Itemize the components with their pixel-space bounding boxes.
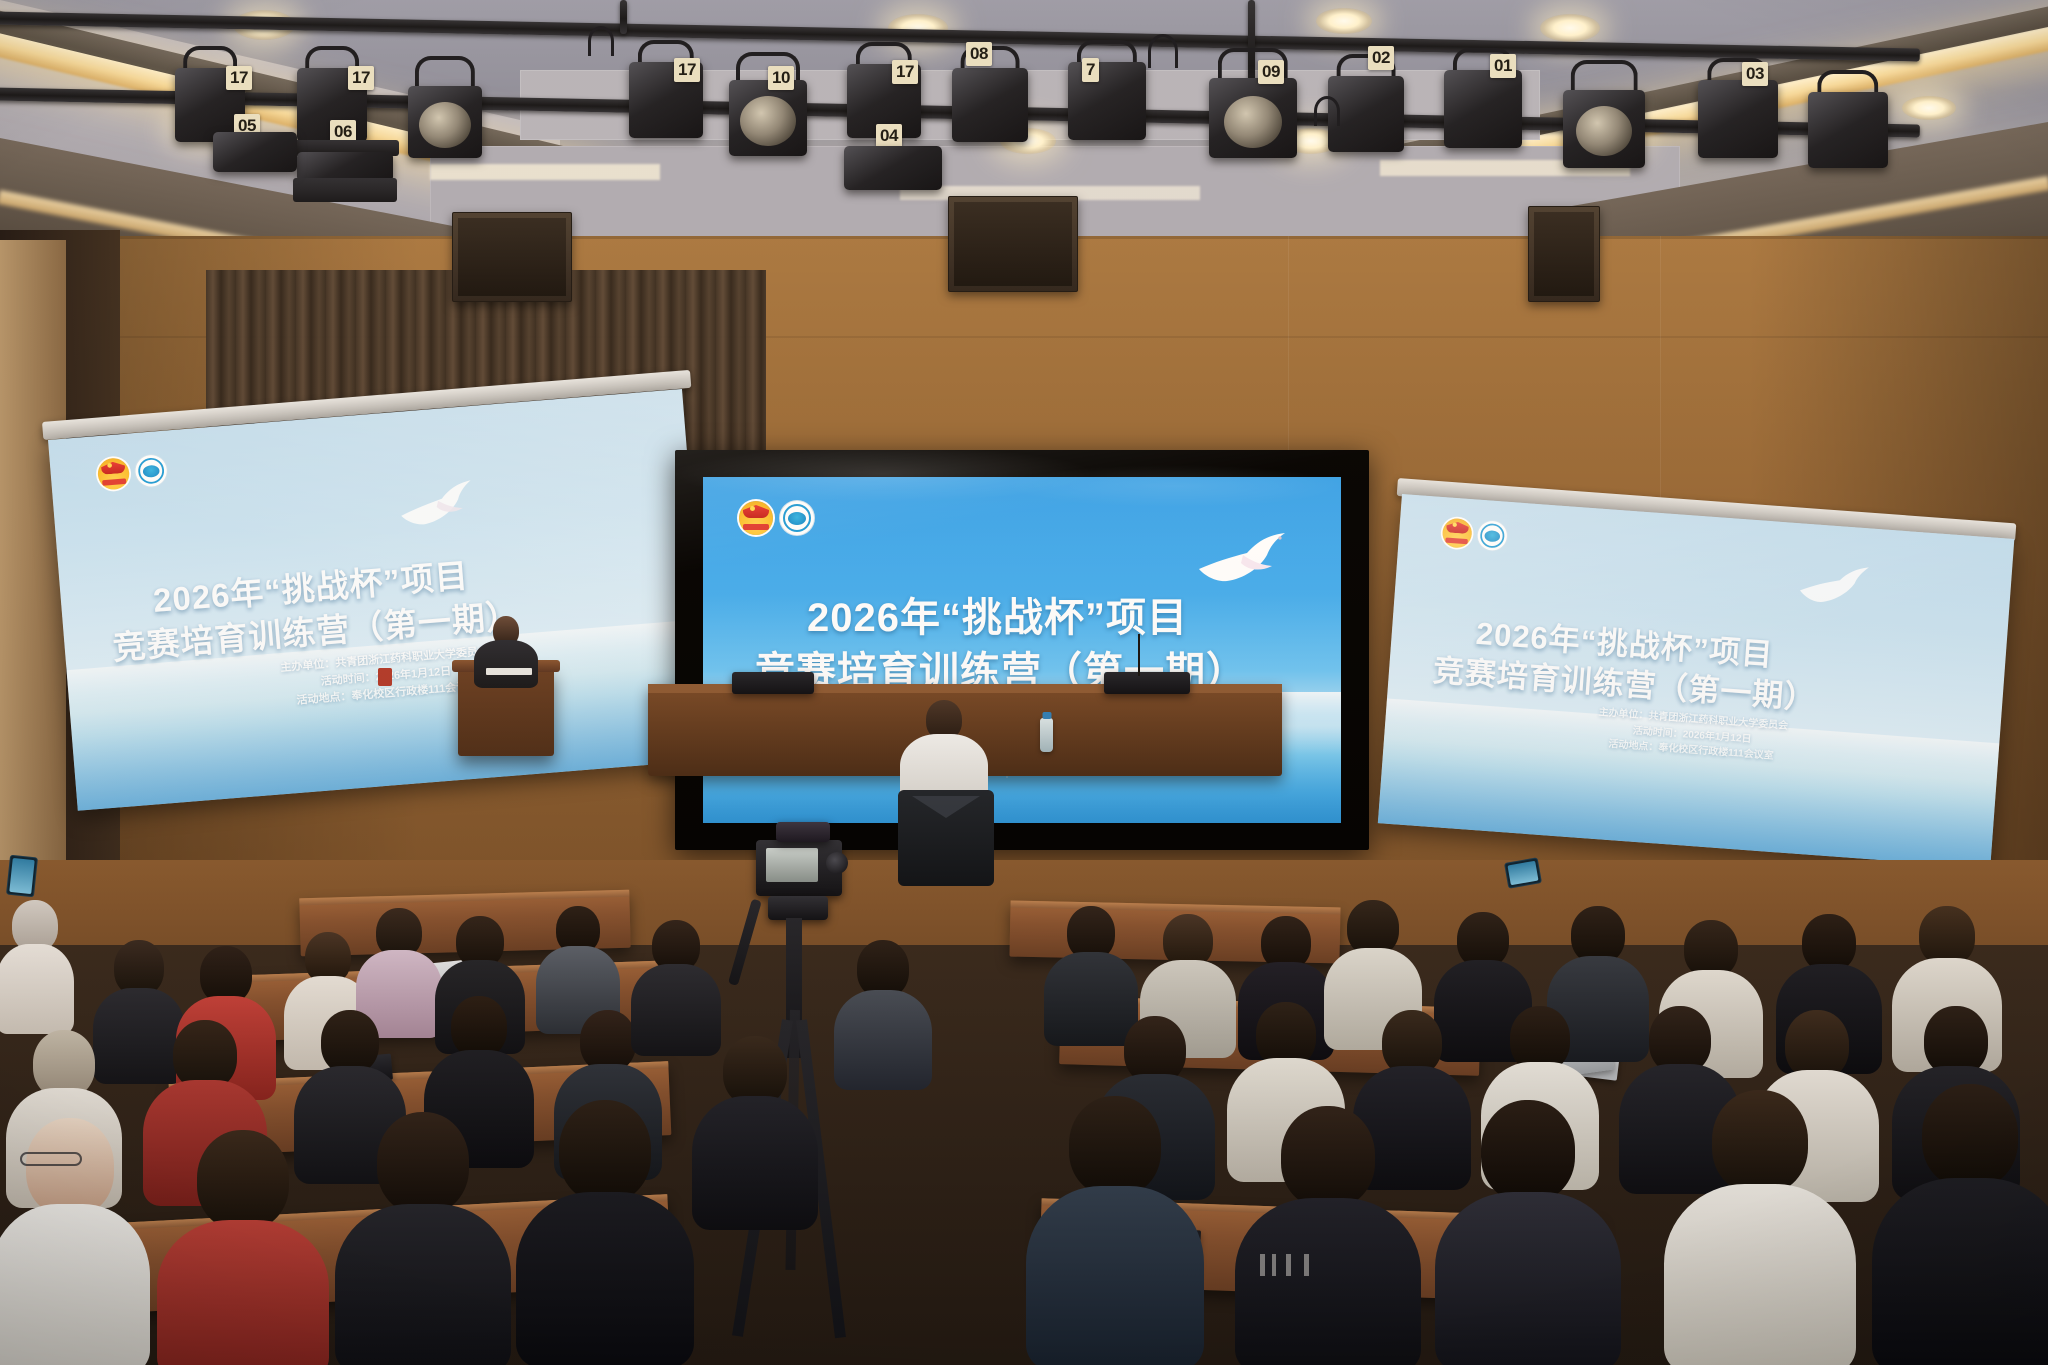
audience-head <box>1919 906 1975 966</box>
stage-light-06: 06 <box>290 120 400 210</box>
camera-mount-plate <box>768 896 828 920</box>
truss-cable-3 <box>1314 96 1340 126</box>
head-table-bottle <box>1040 718 1053 752</box>
audience-body <box>1026 1186 1204 1365</box>
fixture-tag: 01 <box>1490 54 1516 78</box>
video-camera-screen <box>766 848 818 882</box>
podium-paper <box>486 668 532 675</box>
audience-body <box>157 1220 329 1365</box>
video-camera-lens <box>826 852 848 874</box>
stage-light-17c: 17 <box>622 40 710 156</box>
audience-body <box>1435 1192 1621 1365</box>
head-table-monitor-right <box>1104 672 1190 694</box>
audience-body <box>1872 1178 2048 1365</box>
fixture-body <box>1808 92 1888 168</box>
audience-head <box>1069 1096 1161 1196</box>
fixture-tag: 17 <box>892 60 918 84</box>
fixture-tag: 03 <box>1742 62 1768 86</box>
audience-body <box>516 1192 694 1365</box>
downlight-3 <box>1540 14 1600 42</box>
audience-head <box>559 1100 651 1202</box>
stage-light-10: 10 <box>718 52 818 176</box>
audience-member-foreground <box>1040 1096 1190 1365</box>
right-projection-screen: 2026年“挑战杯”项目 竞赛培育训练营（第一期） 主办单位：共青团浙江药科职业… <box>1378 494 2015 868</box>
stage-light-right-fresnel <box>1552 60 1656 188</box>
fixture-body <box>213 132 297 172</box>
fixture-barndoor-lower <box>293 178 397 202</box>
audience-member <box>636 920 716 1046</box>
audience-body <box>692 1096 818 1230</box>
stage-light-fresnel-left <box>398 56 492 174</box>
head-table-microphone <box>1138 634 1140 676</box>
stage-light-05: 05 <box>210 106 300 176</box>
fixture-body <box>1444 70 1522 148</box>
fixture-lens <box>740 96 796 146</box>
downlight-4 <box>1316 8 1372 34</box>
audience-member-foreground <box>1250 1106 1406 1365</box>
audience-member-foreground <box>1680 1090 1840 1365</box>
truss-cable-2 <box>1148 34 1178 68</box>
fixture-lens <box>1576 106 1632 156</box>
university-emblem-icon <box>780 501 814 535</box>
fixture-body <box>844 146 942 190</box>
audience-member-foreground <box>1890 1084 2048 1365</box>
right-screen-sheen <box>1378 494 2015 868</box>
fixture-tag: 02 <box>1368 46 1394 70</box>
audience-head <box>377 1112 469 1214</box>
fixture-tag: 7 <box>1082 58 1099 82</box>
audience-head <box>1712 1090 1808 1194</box>
audience-member-foreground <box>1450 1100 1606 1365</box>
audience-head <box>451 996 507 1058</box>
fixture-body <box>1698 80 1778 158</box>
stage-light-01: 01 <box>1436 48 1530 170</box>
led-video-wall: 2026年“挑战杯”项目 竞赛培育训练营（第一期） 主办单位：共青团浙江药科职业… <box>675 450 1369 850</box>
speaker-grille <box>1534 212 1594 296</box>
fixture-tag: 17 <box>674 58 700 82</box>
presenter-body <box>474 640 538 688</box>
stage-light-04: 04 <box>838 120 948 200</box>
conference-hall-photo: 17 17 06 05 17 10 17 08 <box>0 0 2048 1365</box>
stage-light-09: 09 <box>1198 48 1308 176</box>
fixture-tag: 17 <box>348 66 374 90</box>
phone-screen <box>9 858 34 894</box>
raised-phone-far-left <box>6 855 38 898</box>
truss-cable-1 <box>588 26 614 56</box>
fixture-lens <box>419 102 471 148</box>
audience-body <box>1235 1198 1421 1365</box>
fixture-tag: 09 <box>1258 60 1284 84</box>
bottle-cap <box>1042 712 1051 719</box>
audience-member <box>0 900 70 1020</box>
fixture-tag: 10 <box>768 66 794 90</box>
audience-head <box>1281 1106 1375 1208</box>
head-table-monitor-left <box>732 672 814 694</box>
emergency-button-icon <box>378 668 392 686</box>
audience-head <box>1481 1100 1575 1202</box>
downlight-9 <box>1902 96 1956 120</box>
fixture-body <box>1068 62 1146 140</box>
fixture-tag: 04 <box>876 124 902 148</box>
audience-member-foreground <box>168 1130 318 1365</box>
center-slide-title-line1: 2026年“挑战杯”项目 <box>807 585 1188 643</box>
ceiling-speaker-center <box>948 196 1078 292</box>
audience-member <box>700 1036 810 1226</box>
presenter-at-podium <box>470 616 542 686</box>
truss-dropper-1 <box>620 0 627 34</box>
audience-body <box>834 990 932 1090</box>
audience-body <box>335 1204 511 1365</box>
stage-light-7: 7 <box>1060 40 1154 162</box>
communist-youth-league-emblem-icon <box>739 501 773 535</box>
speaker-grille <box>954 202 1072 286</box>
audience-member-foreground <box>530 1100 680 1360</box>
jacket-text-newbalance <box>1256 1254 1366 1276</box>
stage-light-08: 08 <box>944 46 1036 166</box>
audience-member <box>540 906 616 1026</box>
ceiling-speaker-right <box>1528 206 1600 302</box>
fixture-tag: 08 <box>966 42 992 66</box>
fixture-body <box>952 68 1028 142</box>
eyeglasses-icon <box>20 1152 82 1166</box>
audience-head <box>197 1130 289 1230</box>
center-slide-logos <box>739 501 814 535</box>
audience-member-foreground <box>348 1112 498 1362</box>
phone-screen <box>1507 861 1538 886</box>
stage-light-far-right <box>1800 70 1896 190</box>
audience-body <box>0 1204 150 1365</box>
fixture-yoke <box>1571 60 1638 94</box>
audience-head <box>580 1010 636 1072</box>
audience-head <box>26 1118 114 1216</box>
speaker-grille <box>458 218 566 296</box>
camera-hood <box>776 822 830 842</box>
white-dove-graphic-icon <box>1191 529 1295 591</box>
fixture-tag: 17 <box>226 66 252 90</box>
audience-body <box>0 944 74 1034</box>
fixture-yoke <box>415 56 475 90</box>
left-projection-screen: 2026年“挑战杯”项目 竞赛培育训练营（第一期） 主办单位：共青团浙江药科职业… <box>48 389 712 811</box>
audience-head <box>1922 1084 2018 1188</box>
ceiling-speaker-left <box>452 212 572 302</box>
audience-member <box>840 940 926 1080</box>
audience-head <box>321 1010 379 1074</box>
audience-body <box>1664 1184 1856 1365</box>
left-screen-sheen <box>48 389 712 811</box>
left-wall-panel <box>0 240 66 920</box>
fixture-lens <box>1224 96 1282 148</box>
stage-light-03: 03 <box>1690 58 1786 182</box>
